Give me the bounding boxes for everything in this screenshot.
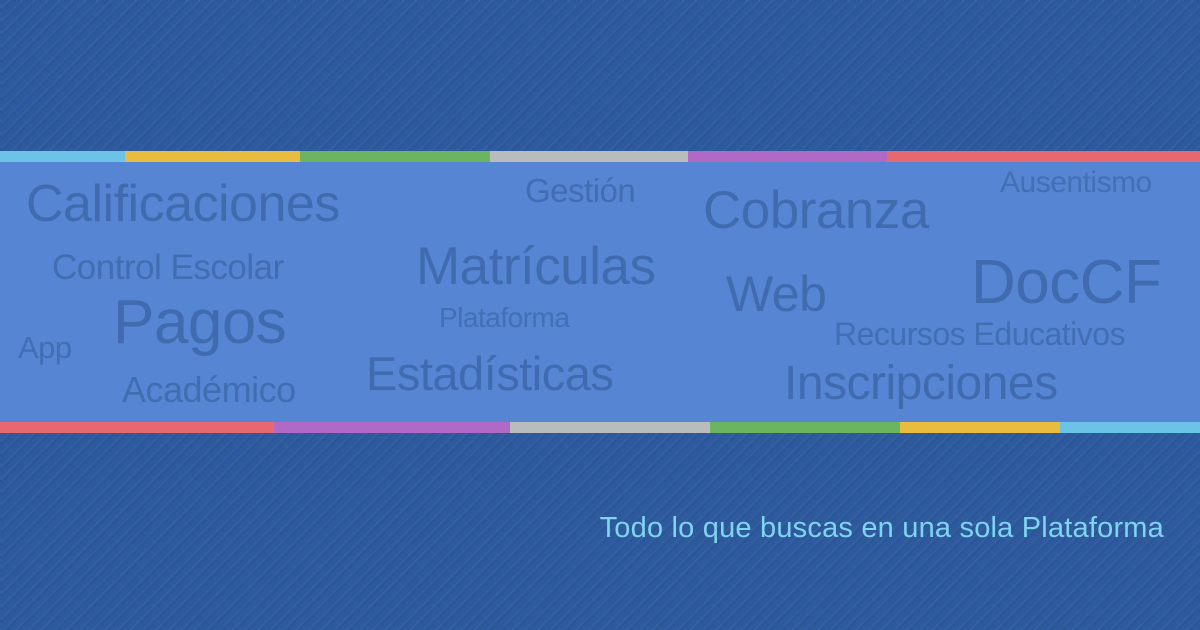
- rule-segment-light-blue: [1060, 422, 1200, 433]
- cloud-word: Calificaciones: [26, 178, 340, 230]
- rule-segment-yellow: [900, 422, 1060, 433]
- tagline: Todo lo que buscas en una sola Plataform…: [0, 512, 1164, 545]
- cloud-word: Estadísticas: [366, 350, 613, 397]
- cloud-word: App: [18, 332, 72, 363]
- color-rule-bottom: [0, 422, 1200, 433]
- cloud-word: Plataforma: [439, 304, 569, 332]
- cloud-word: Académico: [122, 372, 296, 408]
- cloud-word: Matrículas: [416, 240, 655, 293]
- cloud-word: Inscripciones: [784, 360, 1058, 408]
- word-cloud: CalificacionesControl EscolarPagosAppAca…: [0, 152, 1200, 428]
- cloud-word: Ausentismo: [1000, 168, 1152, 198]
- cloud-word: Cobranza: [703, 184, 929, 237]
- cloud-word: Gestión: [525, 174, 635, 207]
- cloud-word: Web: [726, 269, 826, 319]
- rule-segment-gray: [510, 422, 710, 433]
- cloud-word: Control Escolar: [52, 250, 284, 285]
- rule-segment-purple: [274, 422, 510, 433]
- cloud-word: Pagos: [113, 292, 286, 354]
- promo-banner: CalificacionesControl EscolarPagosAppAca…: [0, 0, 1200, 630]
- rule-segment-green: [710, 422, 900, 433]
- rule-segment-red: [0, 422, 274, 433]
- cloud-word: Recursos Educativos: [834, 318, 1125, 350]
- cloud-word: DocCF: [971, 252, 1161, 314]
